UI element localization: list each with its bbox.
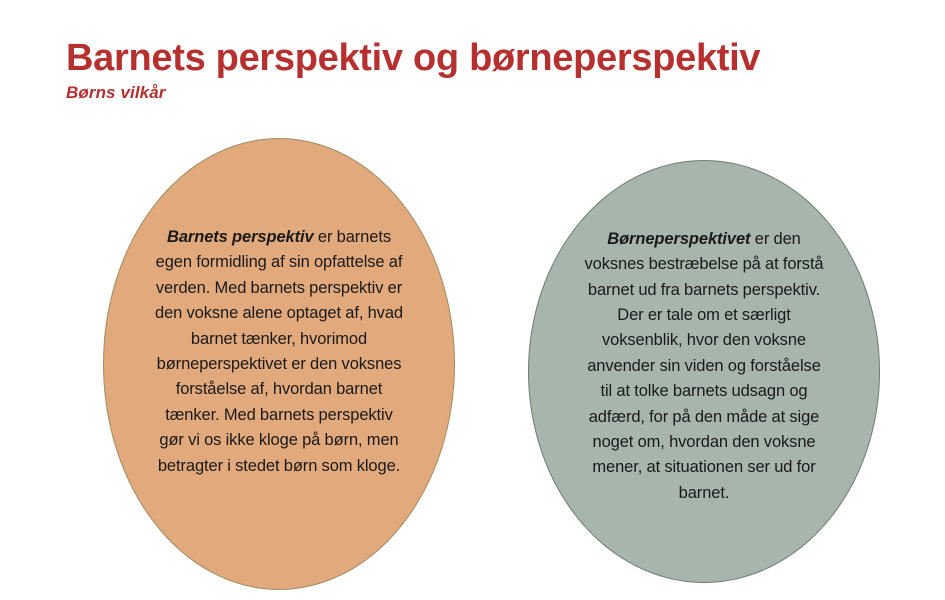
boerneperspektivet-body: er den voksnes bestræbelse på at forstå …: [584, 230, 823, 502]
boerneperspektivet-text: Børneperspektivet er den voksnes bestræb…: [580, 227, 828, 506]
slide-header: Barnets perspektiv og børneperspektiv Bø…: [66, 36, 896, 103]
barnets-perspektiv-body: er barnets egen formidling af sin opfatt…: [155, 228, 403, 475]
barnets-perspektiv-text: Barnets perspektiv er barnets egen formi…: [153, 225, 405, 479]
boerneperspektivet-ellipse: Børneperspektivet er den voksnes bestræb…: [528, 160, 880, 583]
boerneperspektivet-lead-term: Børneperspektivet: [607, 230, 750, 248]
page-title: Barnets perspektiv og børneperspektiv: [66, 36, 896, 80]
barnets-perspektiv-ellipse: Barnets perspektiv er barnets egen formi…: [103, 138, 455, 590]
slide-canvas: Barnets perspektiv og børneperspektiv Bø…: [0, 0, 945, 600]
barnets-perspektiv-lead-term: Barnets perspektiv: [167, 228, 314, 246]
page-subtitle: Børns vilkår: [66, 83, 896, 103]
